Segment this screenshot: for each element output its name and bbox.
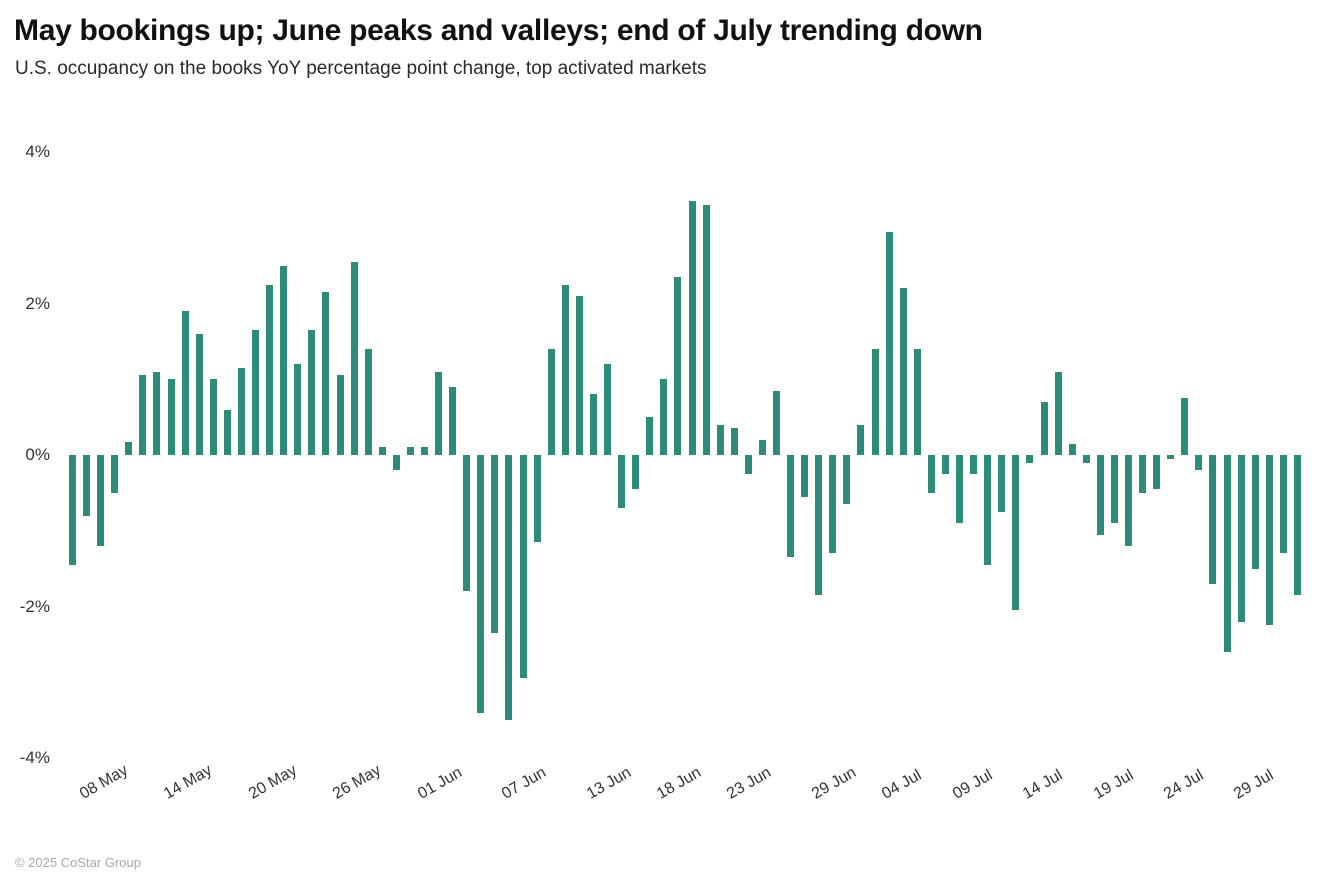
bar [252,330,259,455]
bar [463,455,470,591]
bar [379,447,386,455]
bar [1041,402,1048,455]
bar [322,292,329,455]
x-axis-tick-label: 08 May [77,762,131,804]
bar [632,455,639,489]
bar [365,349,372,455]
bar [942,455,949,474]
bar [449,387,456,455]
x-axis-tick-label: 14 May [161,762,215,804]
bar [1181,398,1188,455]
bar [674,277,681,455]
bar [1097,455,1104,535]
bar [886,232,893,455]
bar [801,455,808,497]
bar [900,288,907,455]
bar [857,425,864,455]
y-axis-tick-label: -4% [2,748,50,768]
bar [1055,372,1062,455]
bar [139,375,146,455]
bar [590,394,597,455]
bar [646,417,653,455]
bar [660,379,667,455]
bar [773,391,780,455]
x-axis-tick-label: 01 Jun [415,764,466,804]
bar [224,410,231,455]
bar [689,201,696,455]
x-axis-tick-label: 23 Jun [724,764,775,804]
bar [1139,455,1146,493]
bar [1083,455,1090,463]
bar [618,455,625,508]
x-axis-tick-label: 20 May [246,762,300,804]
bar [83,455,90,516]
bar [703,205,710,455]
bar [337,375,344,455]
bar [984,455,991,565]
bar [168,379,175,455]
x-axis-tick-label: 19 Jul [1091,767,1137,804]
bar [829,455,836,553]
bar [1238,455,1245,622]
bar [97,455,104,546]
x-axis-tick-label: 07 Jun [499,764,550,804]
y-axis-tick-label: -2% [2,597,50,617]
bar [970,455,977,474]
bar [111,455,118,493]
chart-container: May bookings up; June peaks and valleys;… [0,0,1342,882]
bar [351,262,358,455]
bar [69,455,76,565]
bar [196,334,203,455]
bar [843,455,850,504]
bar [238,368,245,455]
y-axis-tick-label: 2% [2,294,50,314]
bar [407,447,414,455]
bar [1125,455,1132,546]
bar [745,455,752,474]
bar [210,379,217,455]
bar [491,455,498,633]
x-axis-tick-label: 14 Jul [1020,767,1066,804]
x-axis-tick-label: 26 May [330,762,384,804]
bar [1167,455,1174,459]
x-axis-tick-label: 24 Jul [1161,767,1207,804]
bar [872,349,879,455]
bar [1266,455,1273,625]
bar [1195,455,1202,470]
bar [928,455,935,493]
bar [717,425,724,455]
bar [520,455,527,678]
bar [1111,455,1118,523]
bar [787,455,794,557]
bar [421,447,428,455]
bar [1012,455,1019,610]
x-axis-tick-label: 13 Jun [584,764,635,804]
bar [477,455,484,713]
bar [1069,444,1076,455]
bar [1252,455,1259,569]
bar [153,372,160,455]
bar [759,440,766,455]
x-axis-tick-label: 09 Jul [950,767,996,804]
copyright-footer: © 2025 CoStar Group [15,855,141,870]
bar [294,364,301,455]
bar [308,330,315,455]
bar [435,372,442,455]
bar [534,455,541,542]
plot-area: 4%2%0%-2%-4%08 May14 May20 May26 May01 J… [0,0,1342,882]
bar [548,349,555,455]
bar [182,311,189,455]
bar [576,296,583,455]
bar [1153,455,1160,489]
bar [956,455,963,523]
bar [1294,455,1301,595]
x-axis-tick-label: 29 Jul [1231,767,1277,804]
bar [562,285,569,455]
bar [731,428,738,455]
bar [815,455,822,595]
y-axis-tick-label: 0% [2,445,50,465]
bar [604,364,611,455]
x-axis-tick-label: 18 Jun [654,764,705,804]
bar [914,349,921,455]
bar [393,455,400,470]
x-axis-tick-label: 29 Jun [809,764,860,804]
x-axis-tick-label: 04 Jul [879,767,925,804]
bar [1280,455,1287,553]
bar [125,442,132,455]
bar [1026,455,1033,463]
bar [266,285,273,455]
y-axis-tick-label: 4% [2,142,50,162]
bar [505,455,512,720]
bar [1209,455,1216,584]
bar [998,455,1005,512]
bar [280,266,287,455]
bar [1224,455,1231,652]
